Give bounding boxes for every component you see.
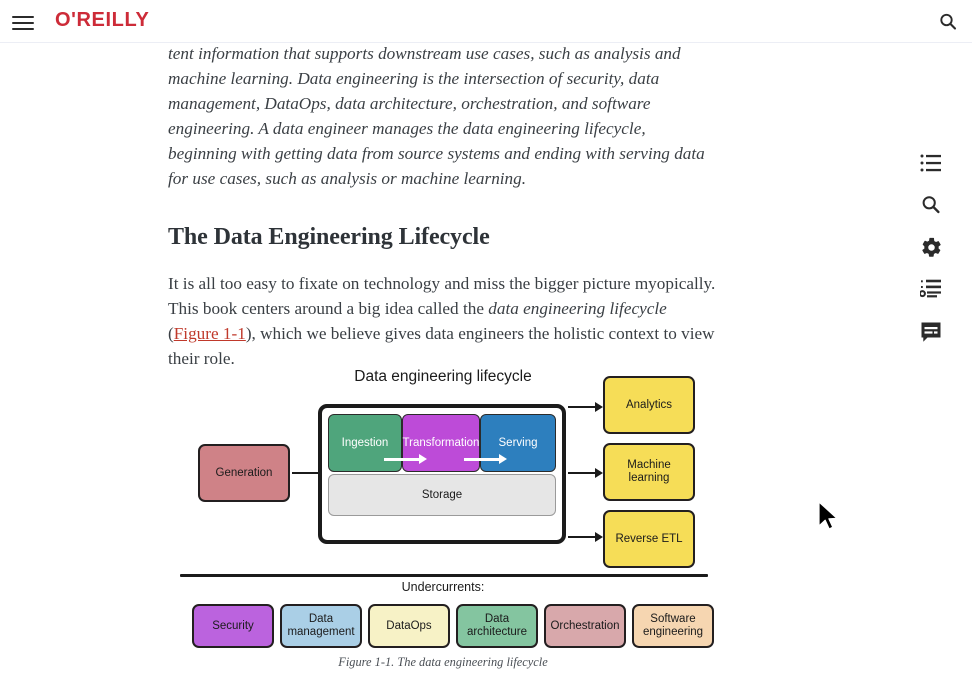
figure-diagram: Data engineering lifecycle Generation In… xyxy=(168,366,718,653)
undercurrent-orchestration: Orchestration xyxy=(544,604,626,648)
undercurrents-divider xyxy=(180,574,708,577)
diagram-node-generation: Generation xyxy=(198,444,290,502)
arrow-ingestion-to-transformation xyxy=(384,458,420,461)
hamburger-bar xyxy=(12,28,34,30)
paragraph-continued: tent information that supports downstrea… xyxy=(168,43,716,191)
diagram-node-label: Transformation xyxy=(403,437,480,449)
paragraph-lifecycle-intro: It is all too easy to fixate on technolo… xyxy=(168,271,716,371)
figure-caption: Figure 1-1. The data engineering lifecyc… xyxy=(168,655,718,670)
reader-content: tent information that supports downstrea… xyxy=(0,43,895,692)
table-of-contents-icon[interactable] xyxy=(909,143,953,183)
undercurrent-data-architecture: Data architecture xyxy=(456,604,538,648)
diagram-node-label: Storage xyxy=(422,489,462,501)
diagram-node-label: Generation xyxy=(216,467,273,480)
undercurrent-label: Data architecture xyxy=(461,613,533,639)
diagram-node-label: Serving xyxy=(499,437,538,449)
undercurrents-label: Undercurrents: xyxy=(168,580,718,594)
diagram-node-storage: Storage xyxy=(328,474,556,516)
emphasis-data-engineering-lifecycle: data engineering lifecycle xyxy=(488,299,667,318)
figure-1-1-link[interactable]: Figure 1-1 xyxy=(174,324,246,343)
undercurrent-label: Orchestration xyxy=(550,620,619,633)
notes-comment-icon[interactable] xyxy=(909,312,953,352)
arrow-transformation-to-serving xyxy=(464,458,500,461)
figure-1-1: Data engineering lifecycle Generation In… xyxy=(168,366,718,670)
diagram-node-label: Ingestion xyxy=(342,437,389,449)
undercurrent-security: Security xyxy=(192,604,274,648)
diagram-node-label: Reverse ETL xyxy=(615,533,682,546)
undercurrent-label: Data management xyxy=(285,613,357,639)
diagram-node-analytics: Analytics xyxy=(603,376,695,434)
diagram-node-transformation: Transformation xyxy=(402,414,480,472)
undercurrent-label: Security xyxy=(212,620,254,633)
undercurrent-data-management: Data management xyxy=(280,604,362,648)
undercurrent-label: Software engineering xyxy=(637,613,709,639)
arrow-generation-to-lifecycle xyxy=(292,472,319,474)
diagram-node-label: Analytics xyxy=(626,399,672,412)
arrow-to-reverse-etl xyxy=(568,536,596,538)
reader-toolbar xyxy=(895,43,972,692)
diagram-node-ingestion: Ingestion xyxy=(328,414,402,472)
hamburger-menu-icon[interactable] xyxy=(8,10,38,36)
arrow-to-machine-learning xyxy=(568,472,596,474)
diagram-node-serving: Serving xyxy=(480,414,556,472)
gear-icon[interactable] xyxy=(909,227,953,267)
diagram-node-reverse-etl: Reverse ETL xyxy=(603,510,695,568)
app-header: O'REILLY xyxy=(0,0,972,43)
undercurrent-label: DataOps xyxy=(386,620,431,633)
oreilly-logo[interactable]: O'REILLY xyxy=(55,9,149,32)
diagram-node-machine-learning: Machine learning xyxy=(603,443,695,501)
highlights-list-icon[interactable] xyxy=(909,269,953,309)
paragraph-text-after: ), which we believe gives data engineers… xyxy=(168,324,715,368)
hamburger-bar xyxy=(12,22,34,24)
undercurrent-software-engineering: Software engineering xyxy=(632,604,714,648)
diagram-node-label: Machine learning xyxy=(608,459,690,485)
page-title: The Data Engineering Lifecycle xyxy=(168,224,716,251)
arrow-to-analytics xyxy=(568,406,596,408)
search-icon[interactable] xyxy=(934,8,962,36)
undercurrent-dataops: DataOps xyxy=(368,604,450,648)
hamburger-bar xyxy=(12,16,34,18)
search-icon[interactable] xyxy=(909,185,953,225)
